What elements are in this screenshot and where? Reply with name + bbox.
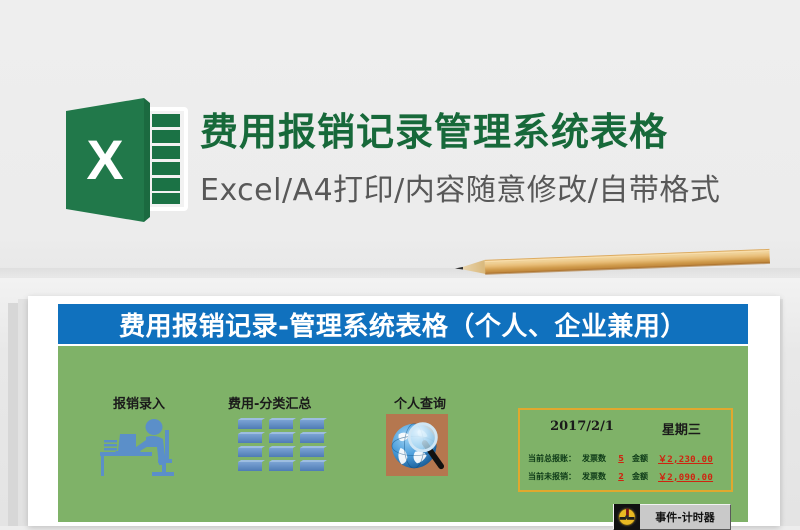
column-label-query: 个人查询 <box>394 393 446 412</box>
current-weekday: 星期三 <box>662 419 701 438</box>
column-label-summary: 费用-分类汇总 <box>228 393 311 412</box>
globe-magnifier-icon[interactable] <box>386 414 448 476</box>
page-subtitle: Excel/A4打印/内容随意修改/自带格式 <box>200 171 720 211</box>
svg-text:X: X <box>86 128 123 191</box>
unreimbursed-label: 当前未报销： <box>528 471 582 482</box>
timer-clock-icon <box>614 504 640 530</box>
sheet-title-text: 费用报销记录-管理系统表格（个人、企业兼用） <box>119 306 687 343</box>
stacked-blocks-icon[interactable] <box>238 418 328 476</box>
unreimbursed-count-value: 2 <box>610 472 632 481</box>
unreimbursed-count-label: 发票数 <box>582 471 610 482</box>
person-at-desk-icon[interactable] <box>98 418 194 476</box>
sheet-body: 报销录入 费用-分类汇总 个人查询 <box>58 346 748 522</box>
spreadsheet-content: 费用报销记录-管理系统表格（个人、企业兼用） 报销录入 费用-分类汇总 个人查询 <box>58 304 748 522</box>
total-amount-label: 金额 <box>632 453 658 464</box>
summary-info-box: 2017/2/1 星期三 当前总报账： 发票数 5 金额 ￥2,230.00 当… <box>518 408 733 492</box>
page-background: X 费用报销记录管理系统表格 Excel/A4打印/内容随意修改/自带格式 <box>0 0 800 526</box>
header-banner: X 费用报销记录管理系统表格 Excel/A4打印/内容随意修改/自带格式 <box>0 40 800 200</box>
total-count-label: 发票数 <box>582 453 610 464</box>
total-label: 当前总报账： <box>528 453 582 464</box>
page-title: 费用报销记录管理系统表格 <box>200 108 668 156</box>
event-timer-label: 事件-计时器 <box>640 509 730 525</box>
sheet-right-gutter <box>750 304 776 522</box>
current-date: 2017/2/1 <box>550 419 614 438</box>
spreadsheet-card: 费用报销记录-管理系统表格（个人、企业兼用） 报销录入 费用-分类汇总 个人查询 <box>28 296 780 526</box>
total-count-value: 5 <box>610 454 632 463</box>
event-timer-button[interactable]: 事件-计时器 <box>613 504 731 530</box>
summary-row-total: 当前总报账： 发票数 5 金额 ￥2,230.00 <box>528 450 728 466</box>
unreimbursed-amount-value: ￥2,090.00 <box>658 470 713 483</box>
excel-logo-icon: X <box>60 97 193 223</box>
column-label-entry: 报销录入 <box>113 393 165 412</box>
summary-row-unreimbursed: 当前未报销： 发票数 2 金额 ￥2,090.00 <box>528 468 728 484</box>
total-amount-value: ￥2,230.00 <box>658 452 713 465</box>
unreimbursed-amount-label: 金额 <box>632 471 658 482</box>
info-date-row: 2017/2/1 星期三 <box>520 419 731 438</box>
sheet-title-bar: 费用报销记录-管理系统表格（个人、企业兼用） <box>58 304 748 344</box>
